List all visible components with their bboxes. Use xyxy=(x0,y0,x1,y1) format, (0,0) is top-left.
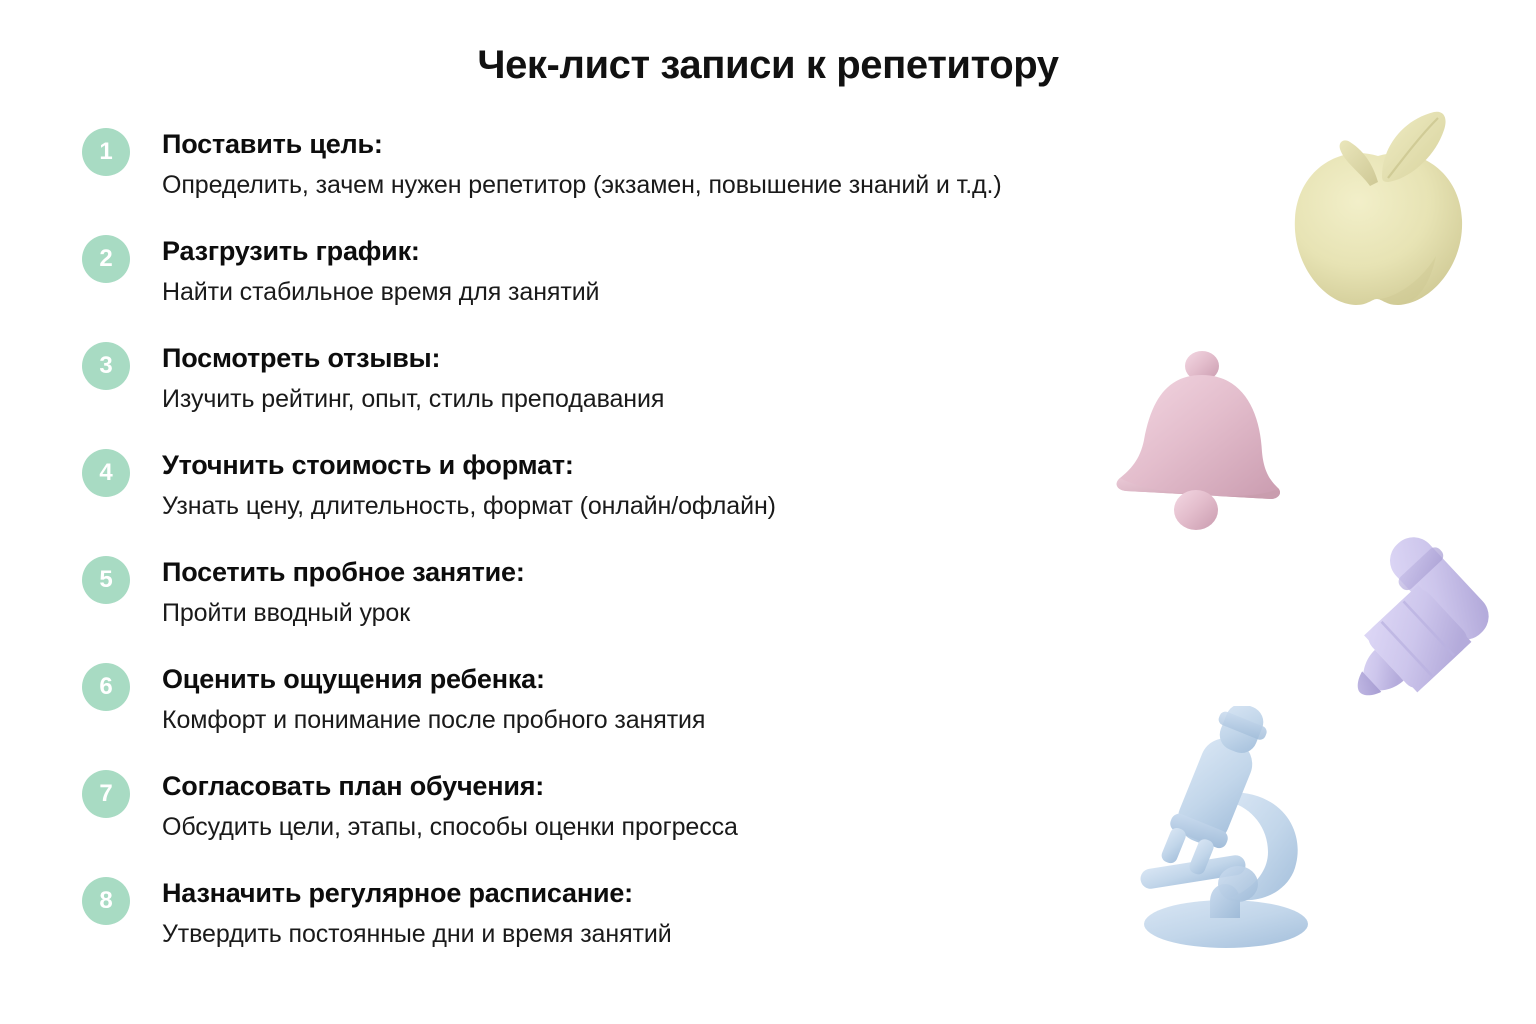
list-item-title: Согласовать план обучения: xyxy=(162,764,1082,802)
list-item: 6 Оценить ощущения ребенка: Комфорт и по… xyxy=(82,657,1082,764)
list-item-description: Узнать цену, длительность, формат (онлай… xyxy=(162,481,1082,522)
step-number-badge: 3 xyxy=(82,342,130,390)
list-item-description: Найти стабильное время для занятий xyxy=(162,267,1082,308)
step-number-badge: 4 xyxy=(82,449,130,497)
list-item-title: Оценить ощущения ребенка: xyxy=(162,657,1082,695)
list-item-title: Посетить пробное занятие: xyxy=(162,550,1082,588)
list-item: 7 Согласовать план обучения: Обсудить це… xyxy=(82,764,1082,871)
step-number-badge: 6 xyxy=(82,663,130,711)
list-item: 1 Поставить цель: Определить, зачем нуже… xyxy=(82,122,1082,229)
microscope-illustration xyxy=(1118,706,1338,956)
list-item-description: Обсудить цели, этапы, способы оценки про… xyxy=(162,802,1082,843)
apple-illustration xyxy=(1278,104,1478,316)
list-item-description: Пройти вводный урок xyxy=(162,588,1082,629)
list-item-description: Комфорт и понимание после пробного занят… xyxy=(162,695,1082,736)
checklist: 1 Поставить цель: Определить, зачем нуже… xyxy=(82,122,1082,978)
step-number-badge: 7 xyxy=(82,770,130,818)
list-item-description: Изучить рейтинг, опыт, стиль преподавани… xyxy=(162,374,1082,415)
step-number-badge: 1 xyxy=(82,128,130,176)
list-item-description: Определить, зачем нужен репетитор (экзам… xyxy=(162,160,1082,201)
list-item-title: Посмотреть отзывы: xyxy=(162,336,1082,374)
page-title: Чек-лист записи к репетитору xyxy=(0,40,1536,90)
list-item-title: Поставить цель: xyxy=(162,122,1082,160)
list-item-title: Назначить регулярное расписание: xyxy=(162,871,1082,909)
list-item: 2 Разгрузить график: Найти стабильное вр… xyxy=(82,229,1082,336)
step-number-badge: 8 xyxy=(82,877,130,925)
list-item-description: Утвердить постоянные дни и время занятий xyxy=(162,909,1082,950)
list-item-title: Уточнить стоимость и формат: xyxy=(162,443,1082,481)
step-number-badge: 5 xyxy=(82,556,130,604)
list-item: 8 Назначить регулярное расписание: Утвер… xyxy=(82,871,1082,978)
list-item: 5 Посетить пробное занятие: Пройти вводн… xyxy=(82,550,1082,657)
pencil-illustration xyxy=(1318,522,1508,704)
bell-illustration xyxy=(1092,348,1290,538)
list-item-title: Разгрузить график: xyxy=(162,229,1082,267)
list-item: 4 Уточнить стоимость и формат: Узнать це… xyxy=(82,443,1082,550)
step-number-badge: 2 xyxy=(82,235,130,283)
list-item: 3 Посмотреть отзывы: Изучить рейтинг, оп… xyxy=(82,336,1082,443)
